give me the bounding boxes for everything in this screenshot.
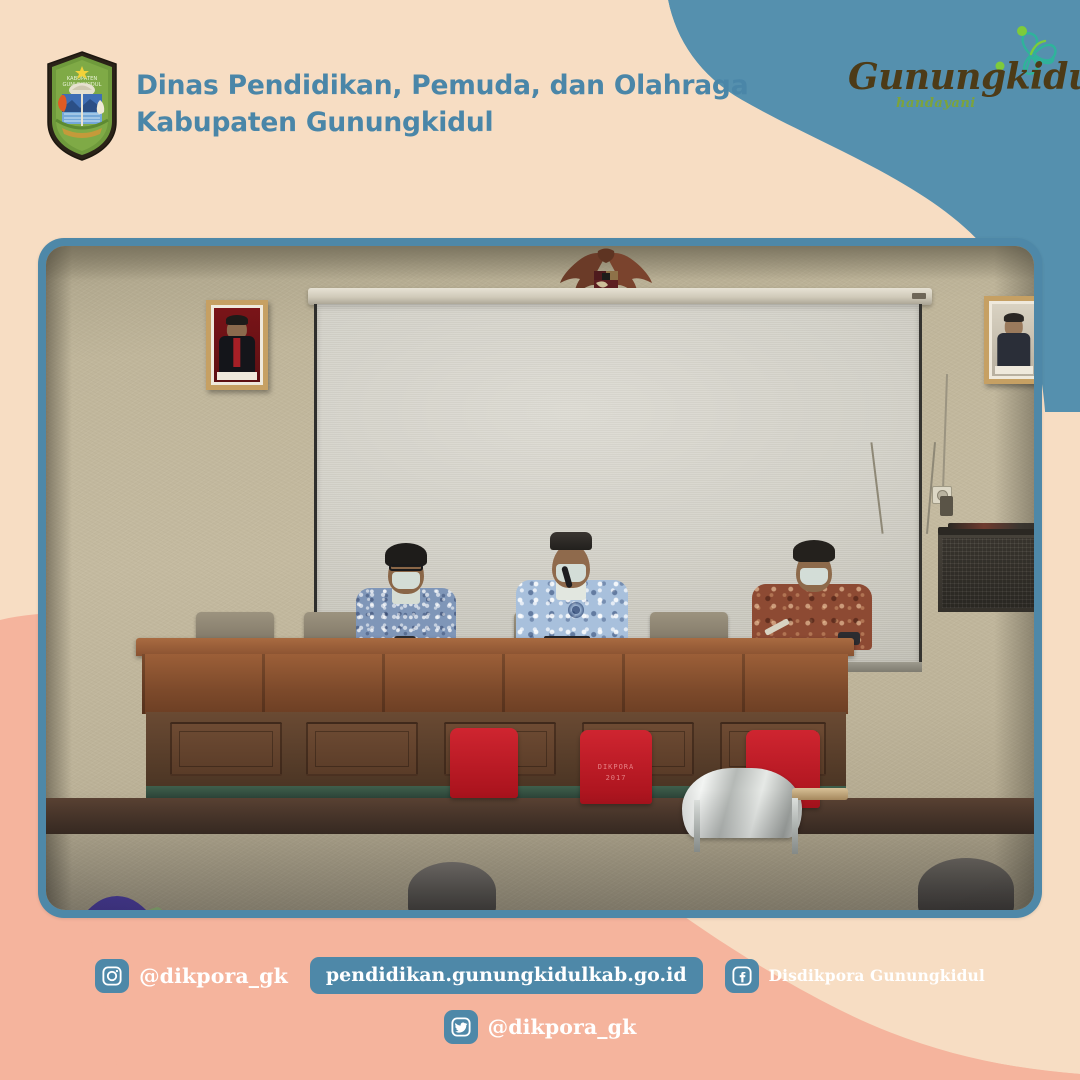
facebook-page-name: Disdikpora Gunungkidul: [769, 966, 985, 985]
chrome-chair-center: [682, 768, 802, 838]
speaker-center: [508, 524, 636, 654]
page-header: KABUPATEN GUNUNGKIDUL Dinas Pendidikan, …: [0, 0, 1080, 200]
photo-frame: DIKPORA2017: [38, 238, 1042, 918]
wall-plug: [940, 496, 953, 516]
brand-logo: Gunungkidul handayani: [848, 22, 1068, 130]
cabinet-grille: [942, 538, 1034, 608]
meeting-photo: DIKPORA2017: [46, 246, 1034, 910]
chrome-chair-leg-2: [792, 798, 798, 854]
audio-cabinet: [938, 534, 1034, 612]
page-title: Dinas Pendidikan, Pemuda, dan Olahraga K…: [136, 68, 748, 141]
podium-table-front: [142, 654, 848, 714]
title-line-1: Dinas Pendidikan, Pemuda, dan Olahraga: [136, 70, 748, 101]
president-portrait: [206, 300, 268, 390]
regency-crest-icon: KABUPATEN GUNUNGKIDUL: [42, 50, 122, 162]
stage-floor: [46, 798, 1034, 834]
facebook-icon[interactable]: [725, 959, 759, 993]
empty-red-chair-2: DIKPORA2017: [580, 730, 652, 804]
instagram-icon[interactable]: [95, 959, 129, 993]
speaker-center-songkok: [550, 532, 592, 550]
website-url-pill[interactable]: pendidikan.gunungkidulkab.go.id: [310, 957, 703, 994]
speaker-left-glasses: [389, 564, 423, 571]
vice-president-portrait: [984, 296, 1034, 384]
table-panel-1: [170, 722, 282, 776]
portrait-right-image: [992, 304, 1034, 376]
title-line-2: Kabupaten Gunungkidul: [136, 105, 748, 142]
korpri-emblem: [568, 602, 584, 618]
chair-stencil-text: DIKPORA2017: [580, 762, 652, 783]
chair-writing-tablet: [792, 788, 848, 800]
portrait-left-image: [214, 308, 260, 382]
instagram-handle: @dikpora_gk: [139, 964, 288, 988]
brand-tagline: handayani: [896, 96, 976, 111]
table-front-seams: [142, 654, 848, 714]
table-panel-2: [306, 722, 418, 776]
chrome-chair-leg-1: [694, 800, 700, 852]
cabinet-top-strip: [948, 523, 1034, 529]
empty-red-chair-1: [450, 728, 518, 798]
brand-wordmark: Gunungkidul: [848, 56, 1048, 98]
footer-row-primary: @dikpora_gk pendidikan.gunungkidulkab.go…: [0, 957, 1080, 994]
social-instagram[interactable]: @dikpora_gk: [95, 959, 288, 993]
audience-person-right: [860, 856, 1034, 910]
audience-person-batik-center: [374, 862, 538, 910]
footer-row-secondary: @dikpora_gk: [0, 1010, 1080, 1044]
social-facebook[interactable]: Disdikpora Gunungkidul: [725, 959, 985, 993]
audience-person-dark-hair: [106, 906, 256, 910]
twitter-icon[interactable]: [444, 1010, 478, 1044]
projector-screen-roller: [308, 288, 932, 305]
speaker-left: [346, 534, 466, 654]
social-twitter[interactable]: @dikpora_gk: [444, 1010, 637, 1044]
twitter-handle: @dikpora_gk: [488, 1015, 637, 1039]
ceiling-shadow: [46, 246, 1034, 280]
footer-social-bar: @dikpora_gk pendidikan.gunungkidulkab.go…: [0, 940, 1080, 1080]
